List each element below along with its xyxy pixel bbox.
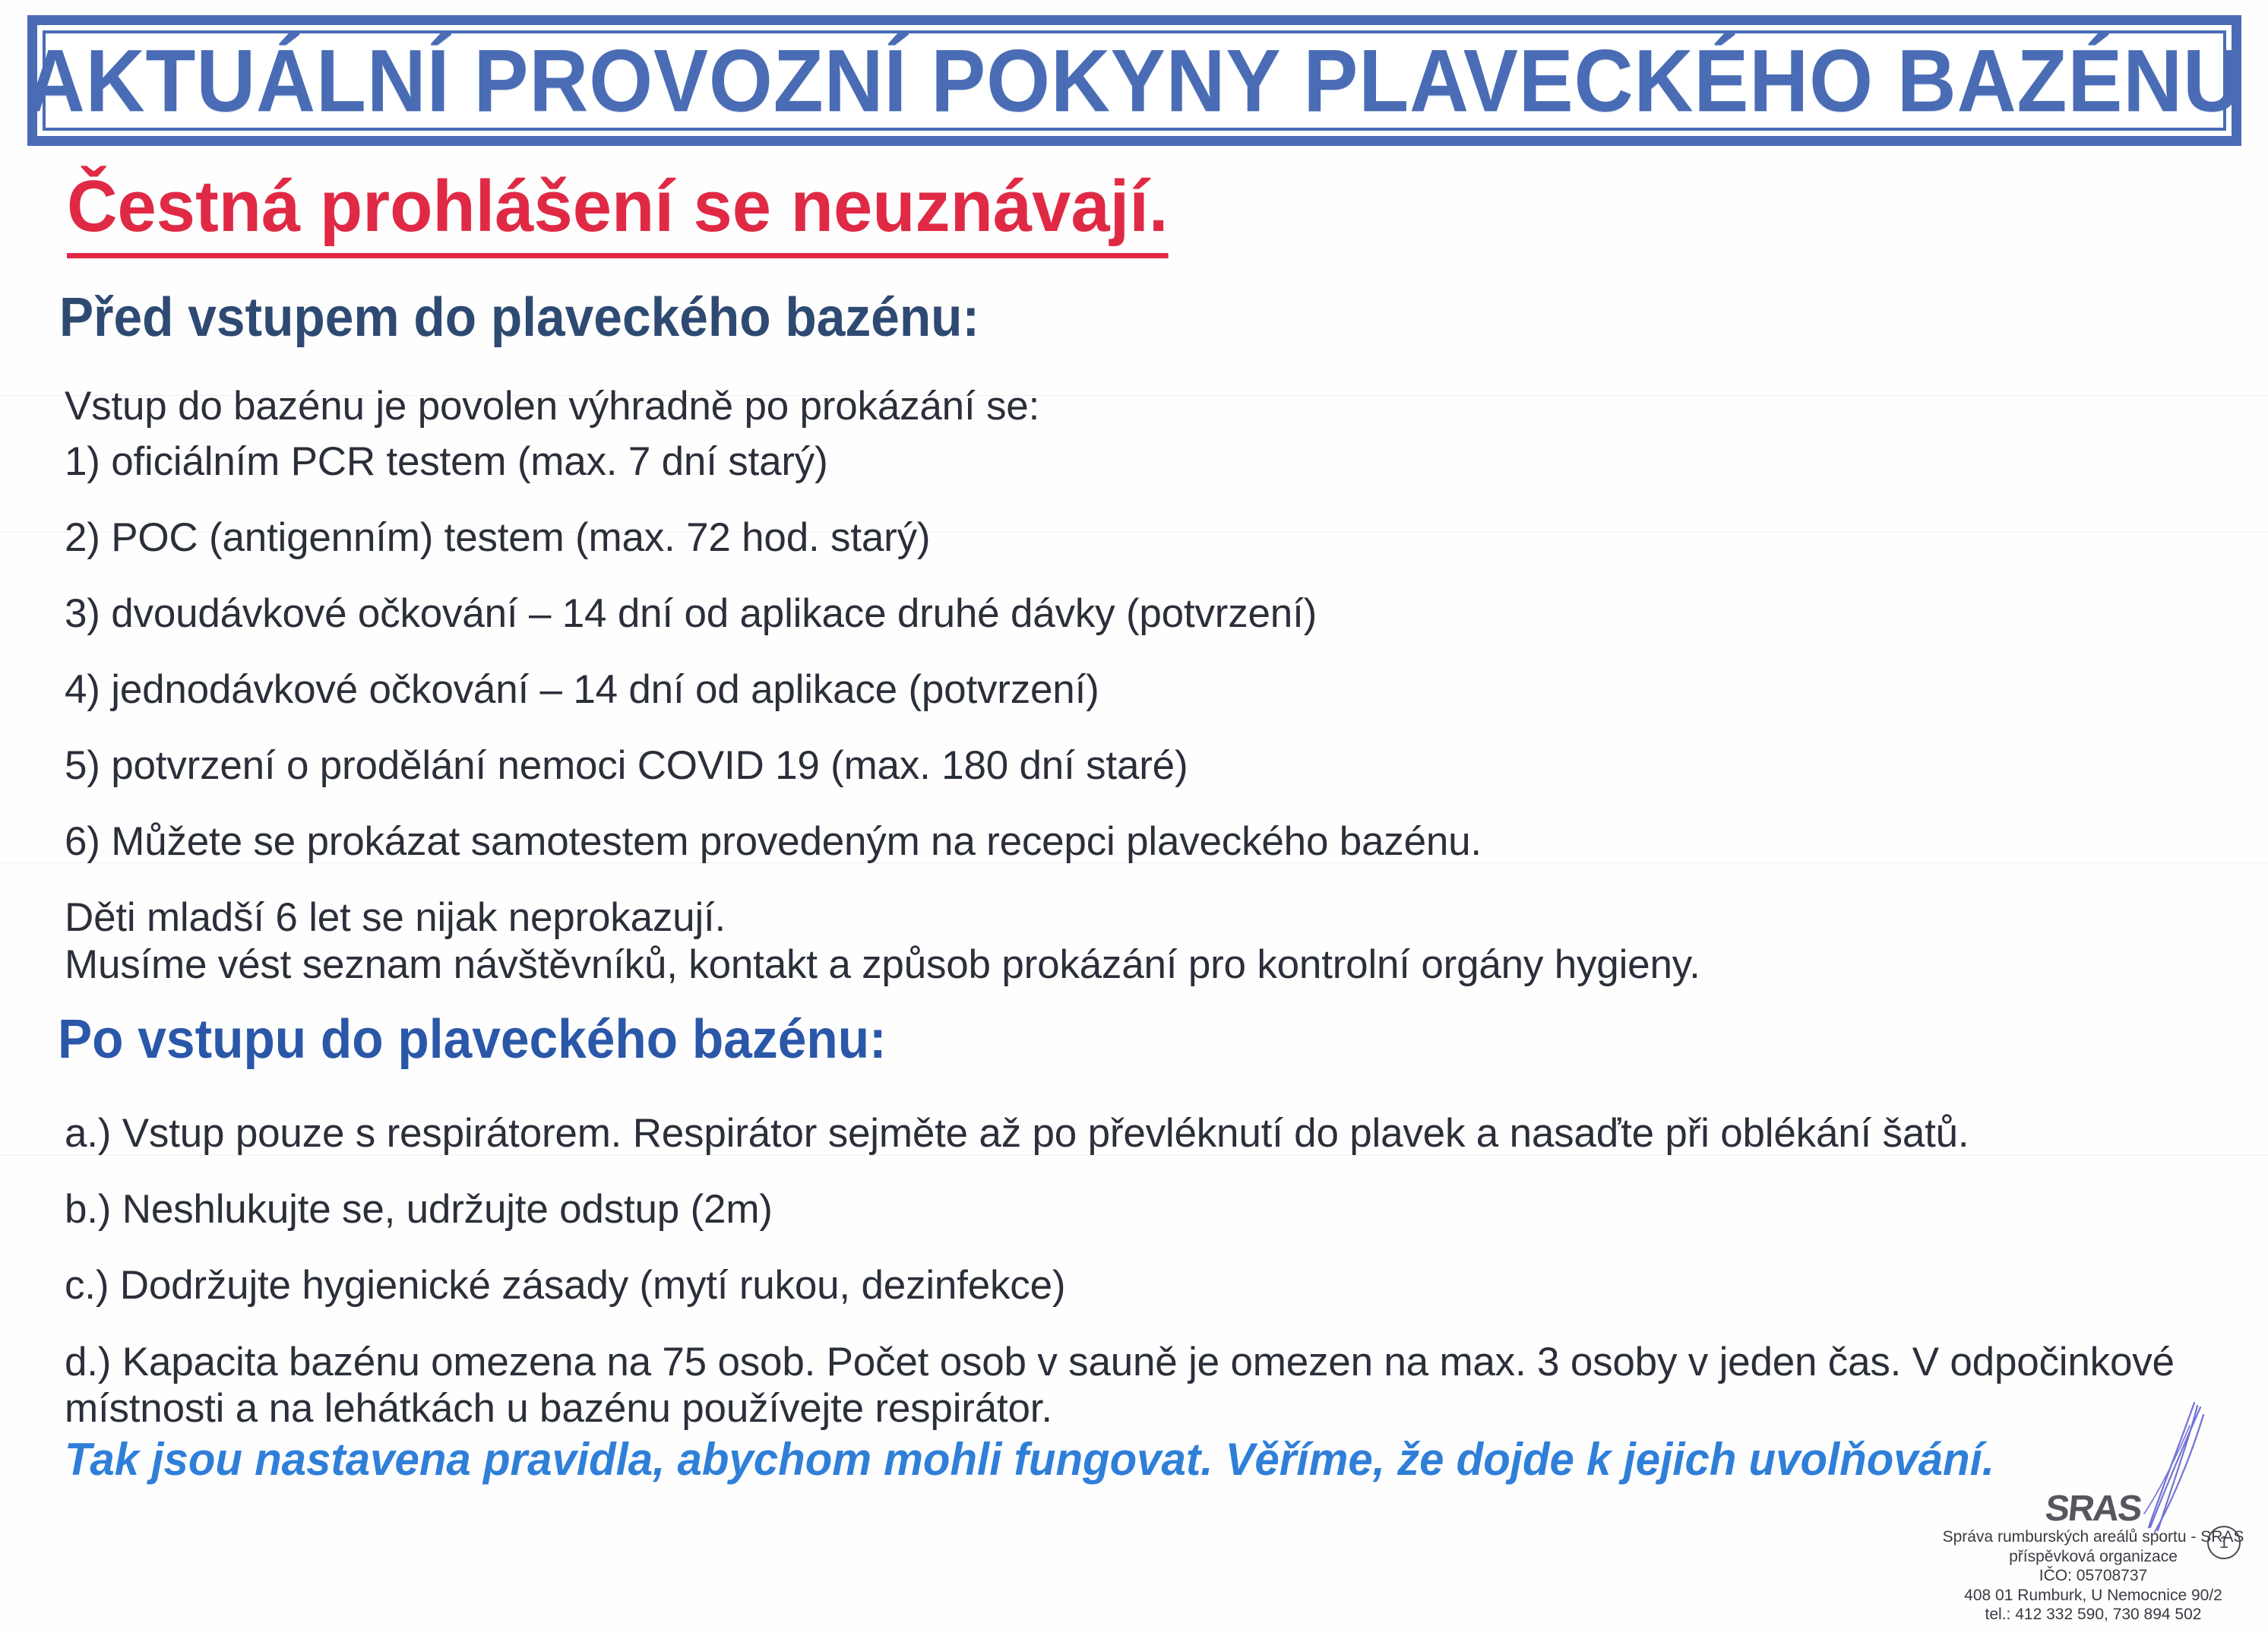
red-notice-heading: Čestná prohlášení se neuznávají. <box>67 169 1168 258</box>
before-entry-item-4: 4) jednodávkové očkování – 14 dní od apl… <box>65 667 1099 713</box>
stamp-line-2: příspěvková organizace <box>1930 1547 2257 1567</box>
after-entry-item-d: d.) Kapacita bazénu omezena na 75 osob. … <box>65 1339 2207 1432</box>
before-entry-intro: Vstup do bazénu je povolen výhradně po p… <box>65 384 1039 429</box>
before-entry-item-1: 1) oficiálním PCR testem (max. 7 dní sta… <box>65 439 828 485</box>
stamp-line-3: IČO: 05708737 <box>1930 1566 2257 1586</box>
note-visitor-register: Musíme vést seznam návštěvníků, kontakt … <box>65 942 1700 988</box>
document-title: AKTUÁLNÍ PROVOZNÍ POKYNY PLAVECKÉHO BAZÉ… <box>26 36 2243 125</box>
title-banner: AKTUÁLNÍ PROVOZNÍ POKYNY PLAVECKÉHO BAZÉ… <box>27 15 2241 146</box>
document-page: AKTUÁLNÍ PROVOZNÍ POKYNY PLAVECKÉHO BAZÉ… <box>0 0 2268 1636</box>
before-entry-item-3: 3) dvoudávkové očkování – 14 dní od apli… <box>65 591 1317 637</box>
closing-note: Tak jsou nastavena pravidla, abychom moh… <box>65 1435 1994 1485</box>
note-children-under-six: Děti mladší 6 let se nijak neprokazují. <box>65 895 726 941</box>
after-entry-item-c: c.) Dodržujte hygienické zásady (mytí ru… <box>65 1263 1065 1308</box>
after-entry-item-a: a.) Vstup pouze s respirátorem. Respirát… <box>65 1111 1969 1157</box>
title-banner-inner-border: AKTUÁLNÍ PROVOZNÍ POKYNY PLAVECKÉHO BAZÉ… <box>43 30 2226 131</box>
stamp-line-4: 408 01 Rumburk, U Nemocnice 90/2 <box>1930 1586 2257 1606</box>
before-entry-item-2: 2) POC (antigenním) testem (max. 72 hod.… <box>65 515 930 561</box>
before-entry-item-5: 5) potvrzení o prodělání nemoci COVID 19… <box>65 743 1188 789</box>
organization-stamp: SRAS Správa rumburských areálů sportu - … <box>1930 1491 2257 1625</box>
stamp-line-5: tel.: 412 332 590, 730 894 502 <box>1930 1605 2257 1625</box>
after-entry-item-b: b.) Neshlukujte se, udržujte odstup (2m) <box>65 1187 773 1233</box>
section-heading-before-entry: Před vstupem do plaveckého bazénu: <box>59 290 979 345</box>
stamp-logo-text: SRAS <box>2044 1491 2143 1527</box>
section-heading-after-entry: Po vstupu do plaveckého bazénu: <box>58 1012 887 1067</box>
before-entry-item-6: 6) Můžete se prokázat samotestem provede… <box>65 819 1482 865</box>
page-number-mark: 1 <box>2207 1526 2241 1559</box>
